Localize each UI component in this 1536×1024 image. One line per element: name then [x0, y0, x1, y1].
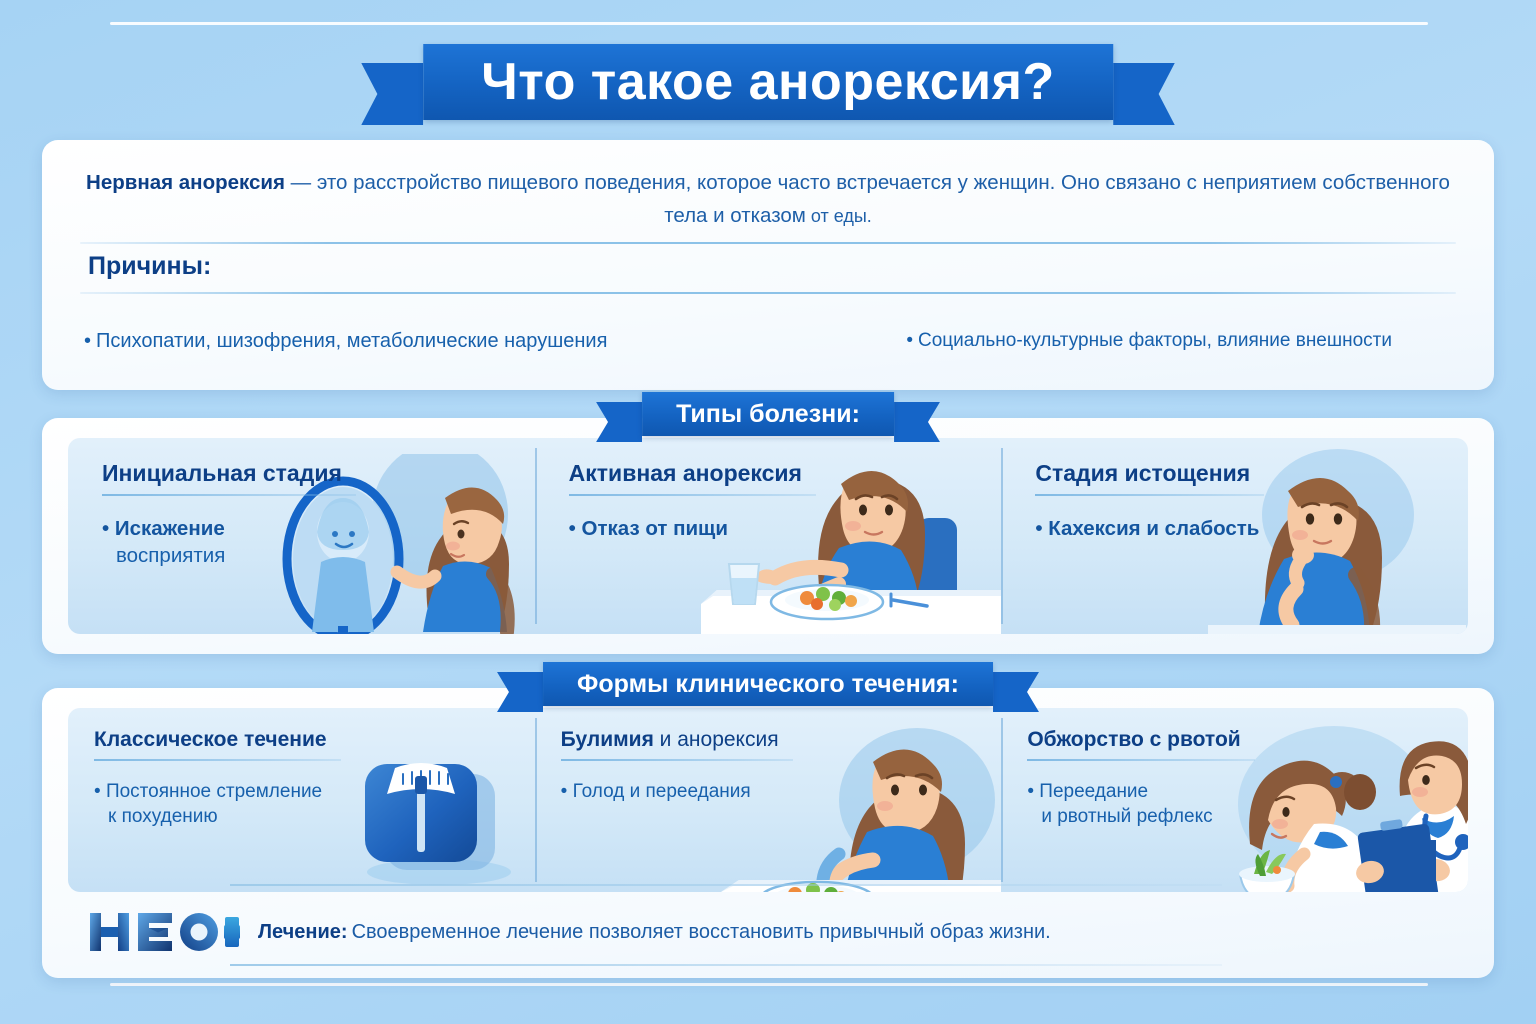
- type-card-initial-stage[interactable]: Инициальная стадия • Искажение восприяти…: [68, 438, 535, 634]
- treatment-text: Своевременное лечение позволяет восстано…: [352, 921, 1051, 943]
- forms-card-row: Классическое течение • Постоянное стремл…: [68, 708, 1468, 892]
- ribbon-tail-right: [894, 402, 940, 442]
- form-card-2-bullet: • Голод и переедания: [561, 780, 751, 805]
- page-title: Что такое анорексия?: [423, 44, 1113, 120]
- intro-paragraph: Нервная анорексия — это расстройство пищ…: [80, 166, 1456, 232]
- bullet-dot-icon: •: [906, 330, 913, 351]
- bullet-dot-icon: •: [102, 517, 115, 540]
- form-card-1-title-main: Классическое течение: [94, 728, 327, 751]
- types-section-title: Типы болезни:: [642, 392, 894, 436]
- footer-row: Лечение:Своевременное лечение позволяет …: [68, 900, 1468, 964]
- types-section-ribbon: Типы болезни:: [596, 392, 940, 436]
- ribbon-tail-left: [596, 402, 642, 442]
- bullet-dot-icon: •: [1035, 517, 1048, 540]
- intro-tail: от еды.: [806, 206, 872, 226]
- types-panel: Инициальная стадия • Искажение восприяти…: [42, 418, 1494, 654]
- footer-rule-lower: [230, 964, 1222, 966]
- type-card-3-bullet: • Кахексия и слабость: [1035, 516, 1259, 543]
- form-card-2-title: Булимия и анорексия: [561, 728, 779, 752]
- cause-item-1: •Психопатии, шизофрения, метаболические …: [84, 330, 607, 353]
- form-card-binge-vomit[interactable]: Обжорство с рвотой • Переедание и рвотны…: [1001, 708, 1468, 892]
- intro-dash: —: [285, 171, 317, 194]
- footer-rule-upper: [230, 884, 1222, 886]
- ribbon-tail-right: [1113, 63, 1175, 125]
- type-card-1-bullet-rest: восприятия: [102, 543, 225, 570]
- bullet-dot-icon: •: [569, 517, 582, 540]
- type-card-2-bullet-strong: Отказ от пищи: [582, 517, 728, 540]
- form-card-3-bullet: • Переедание и рвотный рефлекс: [1027, 780, 1212, 829]
- forms-section-ribbon: Формы клинического течения:: [497, 662, 1039, 706]
- type-card-2-bullet: • Отказ от пищи: [569, 516, 728, 543]
- infographic-stage: Что такое анорексия? Нервная анорексия —…: [0, 0, 1536, 1024]
- bullet-dot-icon: •: [561, 781, 573, 802]
- type-card-3-bullet-strong: Кахексия и слабость: [1048, 517, 1259, 540]
- type-card-active-anorexia[interactable]: Активная анорексия • Отказ от пищи: [535, 438, 1002, 634]
- ribbon-tail-left: [497, 672, 543, 712]
- form-card-1-bullet-strong: Постоянное стремление: [106, 781, 322, 802]
- types-card-row: Инициальная стадия • Искажение восприяти…: [68, 438, 1468, 634]
- treatment-line: Лечение:Своевременное лечение позволяет …: [258, 921, 1051, 944]
- type-card-1-bullet-strong: Искажение: [115, 517, 225, 540]
- intro-rule-upper: [80, 242, 1456, 244]
- neo-plus-logo[interactable]: [88, 907, 240, 957]
- form-card-3-bullet-strong: Переедание: [1039, 781, 1148, 802]
- bullet-dot-icon: •: [84, 330, 91, 352]
- main-title-ribbon: Что такое анорексия?: [361, 44, 1175, 120]
- form-card-1-bullet-rest: к похудению: [94, 805, 322, 830]
- type-card-3-title: Стадия истощения: [1035, 460, 1250, 487]
- causes-heading: Причины:: [88, 252, 211, 281]
- intro-rule-lower: [80, 292, 1456, 294]
- type-card-2-title: Активная анорексия: [569, 460, 802, 487]
- ribbon-tail-right: [993, 672, 1039, 712]
- type-card-1-title: Инициальная стадия: [102, 460, 342, 487]
- causes-list: •Психопатии, шизофрения, метаболические …: [84, 330, 1452, 353]
- cause-item-2: •Социально-культурные факторы, влияние в…: [906, 330, 1452, 352]
- bullet-dot-icon: •: [1027, 781, 1039, 802]
- bullet-dot-icon: •: [94, 781, 106, 802]
- cause-item-2-label: Социально-культурные факторы, влияние вн…: [918, 330, 1392, 351]
- intro-body: это расстройство пищевого поведения, кот…: [317, 171, 1450, 227]
- treatment-label: Лечение:: [258, 921, 348, 943]
- form-card-2-title-thin: и анорексия: [654, 728, 779, 751]
- form-card-bulimia[interactable]: Булимия и анорексия • Голод и переедания: [535, 708, 1002, 892]
- forms-section-title: Формы клинического течения:: [543, 662, 993, 706]
- type-card-cachexia-stage[interactable]: Стадия истощения • Кахексия и слабость: [1001, 438, 1468, 634]
- cause-item-1-label: Психопатии, шизофрения, метаболические н…: [96, 330, 607, 352]
- bottom-divider-line: [110, 983, 1428, 986]
- form-card-3-title: Обжорство с рвотой: [1027, 728, 1240, 752]
- type-card-1-bullet: • Искажение восприятия: [102, 516, 225, 569]
- form-card-2-title-main: Булимия: [561, 728, 654, 751]
- ribbon-tail-left: [361, 63, 423, 125]
- form-card-classic[interactable]: Классическое течение • Постоянное стремл…: [68, 708, 535, 892]
- form-card-2-bullet-strong: Голод и переедания: [573, 781, 751, 802]
- top-divider-line: [110, 22, 1428, 25]
- intro-lead: Нервная анорексия: [86, 171, 285, 194]
- neo-plus-logo-icon: [88, 907, 240, 957]
- intro-panel: Нервная анорексия — это расстройство пищ…: [42, 140, 1494, 390]
- bathroom-scale-illustration: [339, 748, 529, 888]
- form-card-3-bullet-rest: и рвотный рефлекс: [1027, 805, 1212, 830]
- form-card-1-title: Классическое течение: [94, 728, 327, 752]
- form-card-1-bullet: • Постоянное стремление к похудению: [94, 780, 322, 829]
- forms-panel: Классическое течение • Постоянное стремл…: [42, 688, 1494, 978]
- form-card-3-title-main: Обжорство с рвотой: [1027, 728, 1240, 751]
